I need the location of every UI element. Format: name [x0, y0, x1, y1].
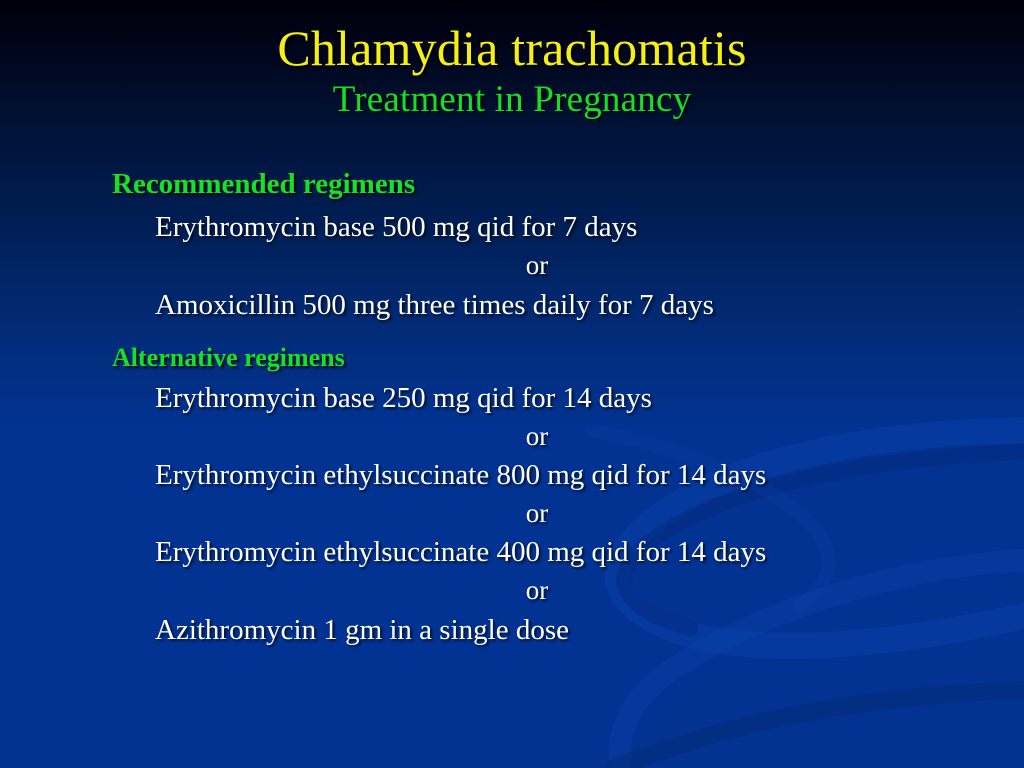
page-title: Chlamydia trachomatis: [0, 22, 1024, 75]
section-heading-recommended: Recommended regimens: [0, 168, 1024, 200]
regimen-line: Erythromycin base 500 mg qid for 7 days: [0, 207, 1024, 247]
or-separator: or: [0, 418, 1024, 455]
section-recommended-regimens: Recommended regimens Erythromycin base 5…: [0, 168, 1024, 325]
regimen-line: Azithromycin 1 gm in a single dose: [0, 610, 1024, 650]
section-heading-alternative: Alternative regimens: [0, 343, 1024, 372]
regimen-line: Erythromycin ethylsuccinate 400 mg qid f…: [0, 532, 1024, 572]
regimen-line: Erythromycin base 250 mg qid for 14 days: [0, 378, 1024, 418]
section-alternative-regimens: Alternative regimens Erythromycin base 2…: [0, 343, 1024, 650]
or-separator: or: [0, 572, 1024, 609]
title-block: Chlamydia trachomatis Treatment in Pregn…: [0, 22, 1024, 120]
or-separator: or: [0, 495, 1024, 532]
page-subtitle: Treatment in Pregnancy: [0, 81, 1024, 120]
or-separator: or: [0, 247, 1024, 284]
slide-body: Recommended regimens Erythromycin base 5…: [0, 168, 1024, 650]
section-spacer: [0, 325, 1024, 343]
regimen-line: Amoxicillin 500 mg three times daily for…: [0, 285, 1024, 325]
presentation-slide: Chlamydia trachomatis Treatment in Pregn…: [0, 0, 1024, 768]
regimen-line: Erythromycin ethylsuccinate 800 mg qid f…: [0, 455, 1024, 495]
